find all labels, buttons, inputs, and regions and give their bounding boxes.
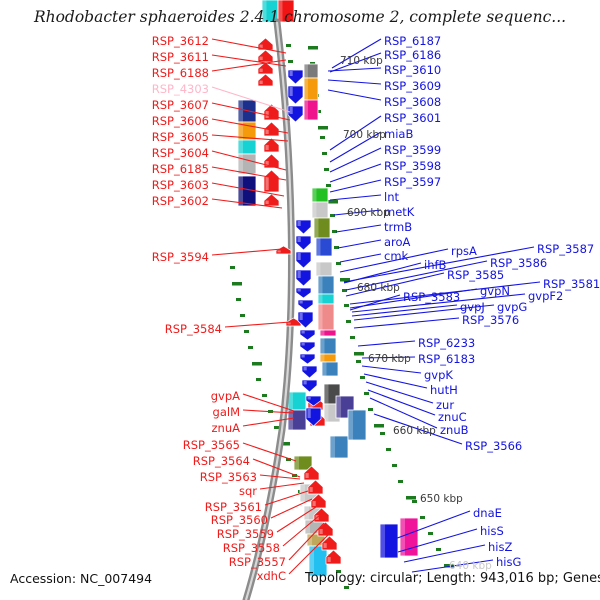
reverse-gene-arrow-shine (304, 367, 307, 370)
cog-block-shine (262, 0, 266, 22)
gene-label[interactable]: RSP_3608 (384, 95, 441, 109)
gene-label[interactable]: RSP_4303 (152, 82, 209, 96)
gene-label[interactable]: rpsA (451, 244, 477, 258)
gene-label[interactable]: cmk (384, 249, 408, 263)
forward-gene-arrow-shine (328, 557, 331, 562)
ruler-tick (398, 480, 403, 483)
ruler-tick (406, 496, 416, 500)
ruler-tick (286, 44, 291, 47)
cog-block-shine (316, 238, 320, 256)
ruler-tick (368, 408, 373, 411)
gene-label[interactable]: RSP_6233 (418, 336, 475, 350)
label-leader-line (368, 390, 435, 415)
cog-block-shine (380, 524, 385, 558)
cog-block-shine (312, 188, 316, 202)
gene-label[interactable]: gvpJ (460, 300, 485, 314)
cog-block-shine (304, 78, 308, 100)
cog-block-shine (318, 276, 322, 294)
ruler-tick (344, 304, 349, 307)
ruler-tick (420, 516, 425, 519)
cog-block-shine (238, 154, 243, 174)
cog-block-shine (304, 64, 308, 78)
gene-label[interactable]: RSP_3585 (447, 268, 504, 282)
label-leader-line (212, 39, 286, 53)
gene-label[interactable]: gvpF2 (528, 289, 563, 303)
cog-block-shine (316, 262, 320, 276)
label-leader-line (212, 55, 286, 66)
gene-label[interactable]: RSP_6188 (152, 66, 209, 80)
gene-label[interactable]: sqr (239, 484, 257, 498)
forward-gene-arrow-shine (260, 81, 263, 84)
ruler-tick (236, 298, 241, 301)
ruler-tick (374, 424, 384, 428)
label-leader-line (330, 164, 381, 182)
gene-label[interactable]: gvpA (211, 389, 240, 403)
cog-block-shine (336, 396, 341, 418)
label-leader-line (344, 263, 421, 283)
cog-block-shine (318, 294, 322, 304)
gene-label[interactable]: RSP_3560 (211, 513, 268, 527)
forward-gene-arrow-shine (266, 201, 269, 204)
gene-label[interactable]: RSP_3559 (217, 527, 274, 541)
ruler-tick (232, 282, 242, 286)
forward-gene-arrow[interactable] (264, 194, 279, 206)
ruler-tick (350, 336, 355, 339)
gene-label[interactable]: RSP_3602 (152, 194, 209, 208)
label-leader-line (358, 341, 415, 346)
gene-label[interactable]: RSP_3606 (152, 114, 209, 128)
gene-label[interactable]: hisS (480, 524, 504, 538)
forward-gene-arrow-shine (260, 57, 263, 60)
gene-label[interactable]: xdhC (257, 569, 286, 583)
gene-label[interactable]: lnt (384, 190, 399, 204)
label-leader-line (330, 148, 381, 172)
gene-label[interactable]: RSP_3604 (152, 146, 209, 160)
ruler-tick (230, 266, 235, 269)
forward-gene-arrow[interactable] (258, 74, 273, 86)
forward-gene-arrow-shine (306, 473, 309, 478)
ruler-tick (354, 352, 364, 356)
ruler-tick (248, 346, 253, 349)
label-leader-line (362, 366, 421, 373)
gene-label[interactable]: gvpG (497, 300, 527, 314)
reverse-gene-arrow-shine (290, 87, 293, 96)
accession-text: Accession: NC_007494 (10, 571, 152, 586)
gene-label[interactable]: ihfB (424, 258, 446, 272)
label-leader-line (330, 195, 381, 200)
cog-block-shine (238, 140, 243, 154)
gene-label[interactable]: RSP_3609 (384, 79, 441, 93)
label-leader-line (364, 374, 427, 388)
gene-label[interactable]: gvpN (480, 284, 510, 298)
gene-label[interactable]: RSP_3597 (384, 175, 441, 189)
reverse-gene-arrow-shine (298, 221, 301, 226)
label-leader-line (336, 225, 381, 232)
sequence-summary-text: Topology: circular; Length: 943,016 bp; … (305, 571, 600, 586)
ruler-position-label: 650 kbp (420, 493, 463, 505)
label-leader-line (212, 249, 282, 255)
gene-label[interactable]: RSP_3565 (183, 438, 240, 452)
cog-block-shine (238, 100, 243, 122)
ruler-tick (240, 314, 245, 317)
ruler-tick (436, 548, 441, 551)
genome-map-canvas[interactable]: Rhodobacter sphaeroides 2.4.1 chromosome… (0, 0, 600, 600)
label-leader-line (260, 483, 304, 489)
ruler-tick (318, 126, 328, 130)
reverse-gene-arrow-shine (308, 409, 311, 418)
gene-label[interactable]: hisZ (488, 540, 512, 554)
label-leader-lines (212, 39, 540, 574)
ruler-tick (364, 392, 369, 395)
cog-block-shine (318, 304, 322, 330)
cog-block-shine (330, 436, 335, 458)
gene-label[interactable]: RSP_3611 (152, 50, 209, 64)
ruler-tick (252, 362, 262, 366)
reverse-gene-arrow-shine (302, 355, 305, 358)
ruler-tick (344, 586, 349, 589)
reverse-gene-arrow-shine (298, 271, 301, 278)
gene-label[interactable]: miaB (384, 127, 413, 141)
ruler-tick (392, 464, 397, 467)
forward-gene-arrow-shine (260, 45, 263, 48)
gene-label[interactable]: znuB (440, 423, 469, 437)
gene-label[interactable]: RSP_3557 (229, 555, 286, 569)
reverse-gene-arrow-shine (298, 253, 301, 260)
ruler-tick (324, 168, 329, 171)
ruler-tick (380, 432, 385, 435)
gene-label[interactable]: RSP_3563 (200, 470, 257, 484)
ruler-tick (256, 378, 261, 381)
ruler-position-label: 700 kbp (343, 129, 386, 141)
gene-label[interactable]: RSP_3566 (465, 439, 522, 453)
gene-label[interactable]: RSP_3564 (193, 454, 250, 468)
ruler-tick-marks (230, 44, 454, 589)
gene-label[interactable]: RSP_6186 (384, 48, 441, 62)
forward-gene-arrow-shine (260, 69, 263, 72)
gene-label[interactable]: RSP_3576 (462, 313, 519, 327)
cog-block-shine (324, 384, 328, 404)
cog-block-shine (312, 202, 316, 218)
gene-label[interactable]: RSP_3612 (152, 34, 209, 48)
reverse-gene-arrow-shine (308, 397, 311, 400)
ruler-position-label: 680 kbp (357, 282, 400, 294)
ruler-tick (346, 320, 351, 323)
gene-label[interactable]: RSP_6183 (418, 352, 475, 366)
gene-label[interactable]: RSP_3587 (537, 242, 594, 256)
gene-label[interactable]: gvpK (424, 368, 453, 382)
gene-label[interactable]: RSP_3558 (223, 541, 280, 555)
ruler-tick (274, 426, 279, 429)
ruler-tick (386, 448, 391, 451)
ruler-tick (244, 330, 249, 333)
cog-block-shine (314, 218, 318, 238)
gene-label[interactable]: RSP_3601 (384, 111, 441, 125)
label-leader-line (225, 322, 290, 327)
reverse-gene-arrow-shine (290, 71, 293, 76)
cog-block-shine (320, 330, 324, 336)
ruler-tick (288, 60, 293, 63)
gene-label[interactable]: znuA (212, 421, 240, 435)
cog-block-shine (348, 410, 353, 440)
ruler-tick (262, 394, 267, 397)
cog-block-shine (304, 100, 308, 120)
reverse-gene-arrow-shine (298, 289, 301, 292)
ruler-tick (328, 200, 338, 204)
gene-label[interactable]: galM (213, 405, 240, 419)
cog-block-shine (278, 0, 282, 22)
ruler-tick (320, 136, 325, 139)
ruler-tick (428, 532, 433, 535)
gene-label[interactable]: RSP_3584 (165, 322, 222, 336)
forward-gene-arrow-shine (266, 145, 269, 150)
gene-label[interactable]: znuC (438, 410, 467, 424)
forward-gene-arrow-shine (320, 529, 323, 534)
gene-label[interactable]: trmB (384, 220, 412, 234)
gene-label[interactable]: dnaE (473, 506, 502, 520)
reverse-gene-arrow-shine (300, 301, 303, 304)
forward-gene-arrow-shine (310, 487, 313, 492)
forward-gene-arrow[interactable] (258, 50, 273, 62)
reverse-gene-arrow-shine (290, 107, 293, 114)
reverse-gene-arrow-shine (300, 313, 303, 320)
gene-label[interactable]: aroA (384, 235, 410, 249)
label-leader-line (354, 318, 459, 328)
gene-label[interactable]: RSP_3603 (152, 178, 209, 192)
label-leader-line (212, 60, 286, 71)
ruler-position-label: 670 kbp (368, 353, 411, 365)
label-leader-line (338, 240, 381, 248)
ruler-position-label: 690 kbp (347, 207, 390, 219)
ruler-tick (326, 184, 331, 187)
ruler-tick (308, 46, 318, 50)
cog-block-shine (320, 338, 324, 354)
gene-label[interactable]: RSP_3583 (403, 290, 460, 304)
ruler-tick (412, 500, 417, 503)
gene-label[interactable]: RSP_3599 (384, 143, 441, 157)
label-leader-line (330, 180, 381, 192)
label-leader-line (328, 90, 381, 100)
gene-label[interactable]: hutH (430, 383, 458, 397)
cog-block-shine (294, 456, 299, 470)
reverse-gene-arrow-shine (302, 343, 305, 346)
cog-block-shine (320, 354, 324, 362)
ruler-tick (322, 152, 327, 155)
cog-block-shine (322, 362, 326, 376)
gene-label[interactable]: RSP_3607 (152, 98, 209, 112)
gene-label[interactable]: hisG (496, 555, 521, 569)
forward-gene-arrow-shine (324, 543, 327, 548)
ruler-tick (356, 360, 361, 363)
gene-label[interactable]: RSP_6187 (384, 34, 441, 48)
cog-block-shine (238, 176, 243, 206)
gene-label[interactable]: RSP_3594 (152, 250, 209, 264)
reverse-gene-arrow-shine (302, 331, 305, 334)
label-leader-line (328, 80, 381, 84)
ruler-tick (360, 376, 365, 379)
label-leader-line (340, 254, 381, 262)
forward-gene-arrow-shine (266, 177, 269, 190)
gene-label[interactable]: RSP_3561 (205, 500, 262, 514)
reverse-gene-arrow-shine (298, 237, 301, 242)
ruler-position-label: 660 kbp (393, 425, 436, 437)
forward-gene-arrow-shine (313, 501, 316, 506)
gene-label[interactable]: RSP_6185 (152, 162, 209, 176)
forward-gene-arrow-shine (278, 250, 281, 252)
gene-label[interactable]: RSP_3610 (384, 63, 441, 77)
gene-label[interactable]: RSP_3605 (152, 130, 209, 144)
ruler-position-label: 710 kbp (340, 55, 383, 67)
gene-label[interactable]: RSP_3598 (384, 159, 441, 173)
reverse-gene-arrow-shine (304, 381, 307, 384)
label-leader-line (243, 443, 296, 461)
